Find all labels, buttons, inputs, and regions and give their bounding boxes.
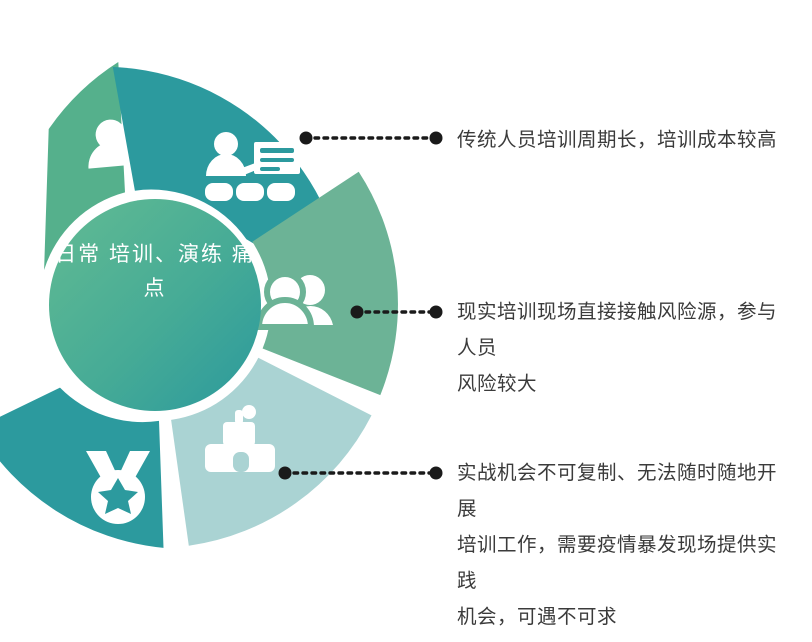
connector-1-dot-end — [430, 132, 443, 145]
callout-text-3: 实战机会不可复制、无法随时随地开展 培训工作，需要疫情暴发现场提供实践 机会，可… — [457, 455, 787, 635]
infographic-canvas: 日常 培训、演练 痛点 传统人员培训周期长，培训成本较高 现实培训现场直接接触风… — [0, 0, 812, 642]
connector-1 — [300, 132, 443, 145]
center-circle[interactable] — [49, 199, 261, 411]
connector-3-dot-end — [430, 467, 443, 480]
connector-2-dot-end — [430, 306, 443, 319]
petal-medal[interactable] — [0, 388, 164, 548]
callout-text-2: 现实培训现场直接接触风险源，参与人员 风险较大 — [457, 294, 787, 402]
callout-text-1: 传统人员培训周期长，培训成本较高 — [457, 122, 787, 158]
